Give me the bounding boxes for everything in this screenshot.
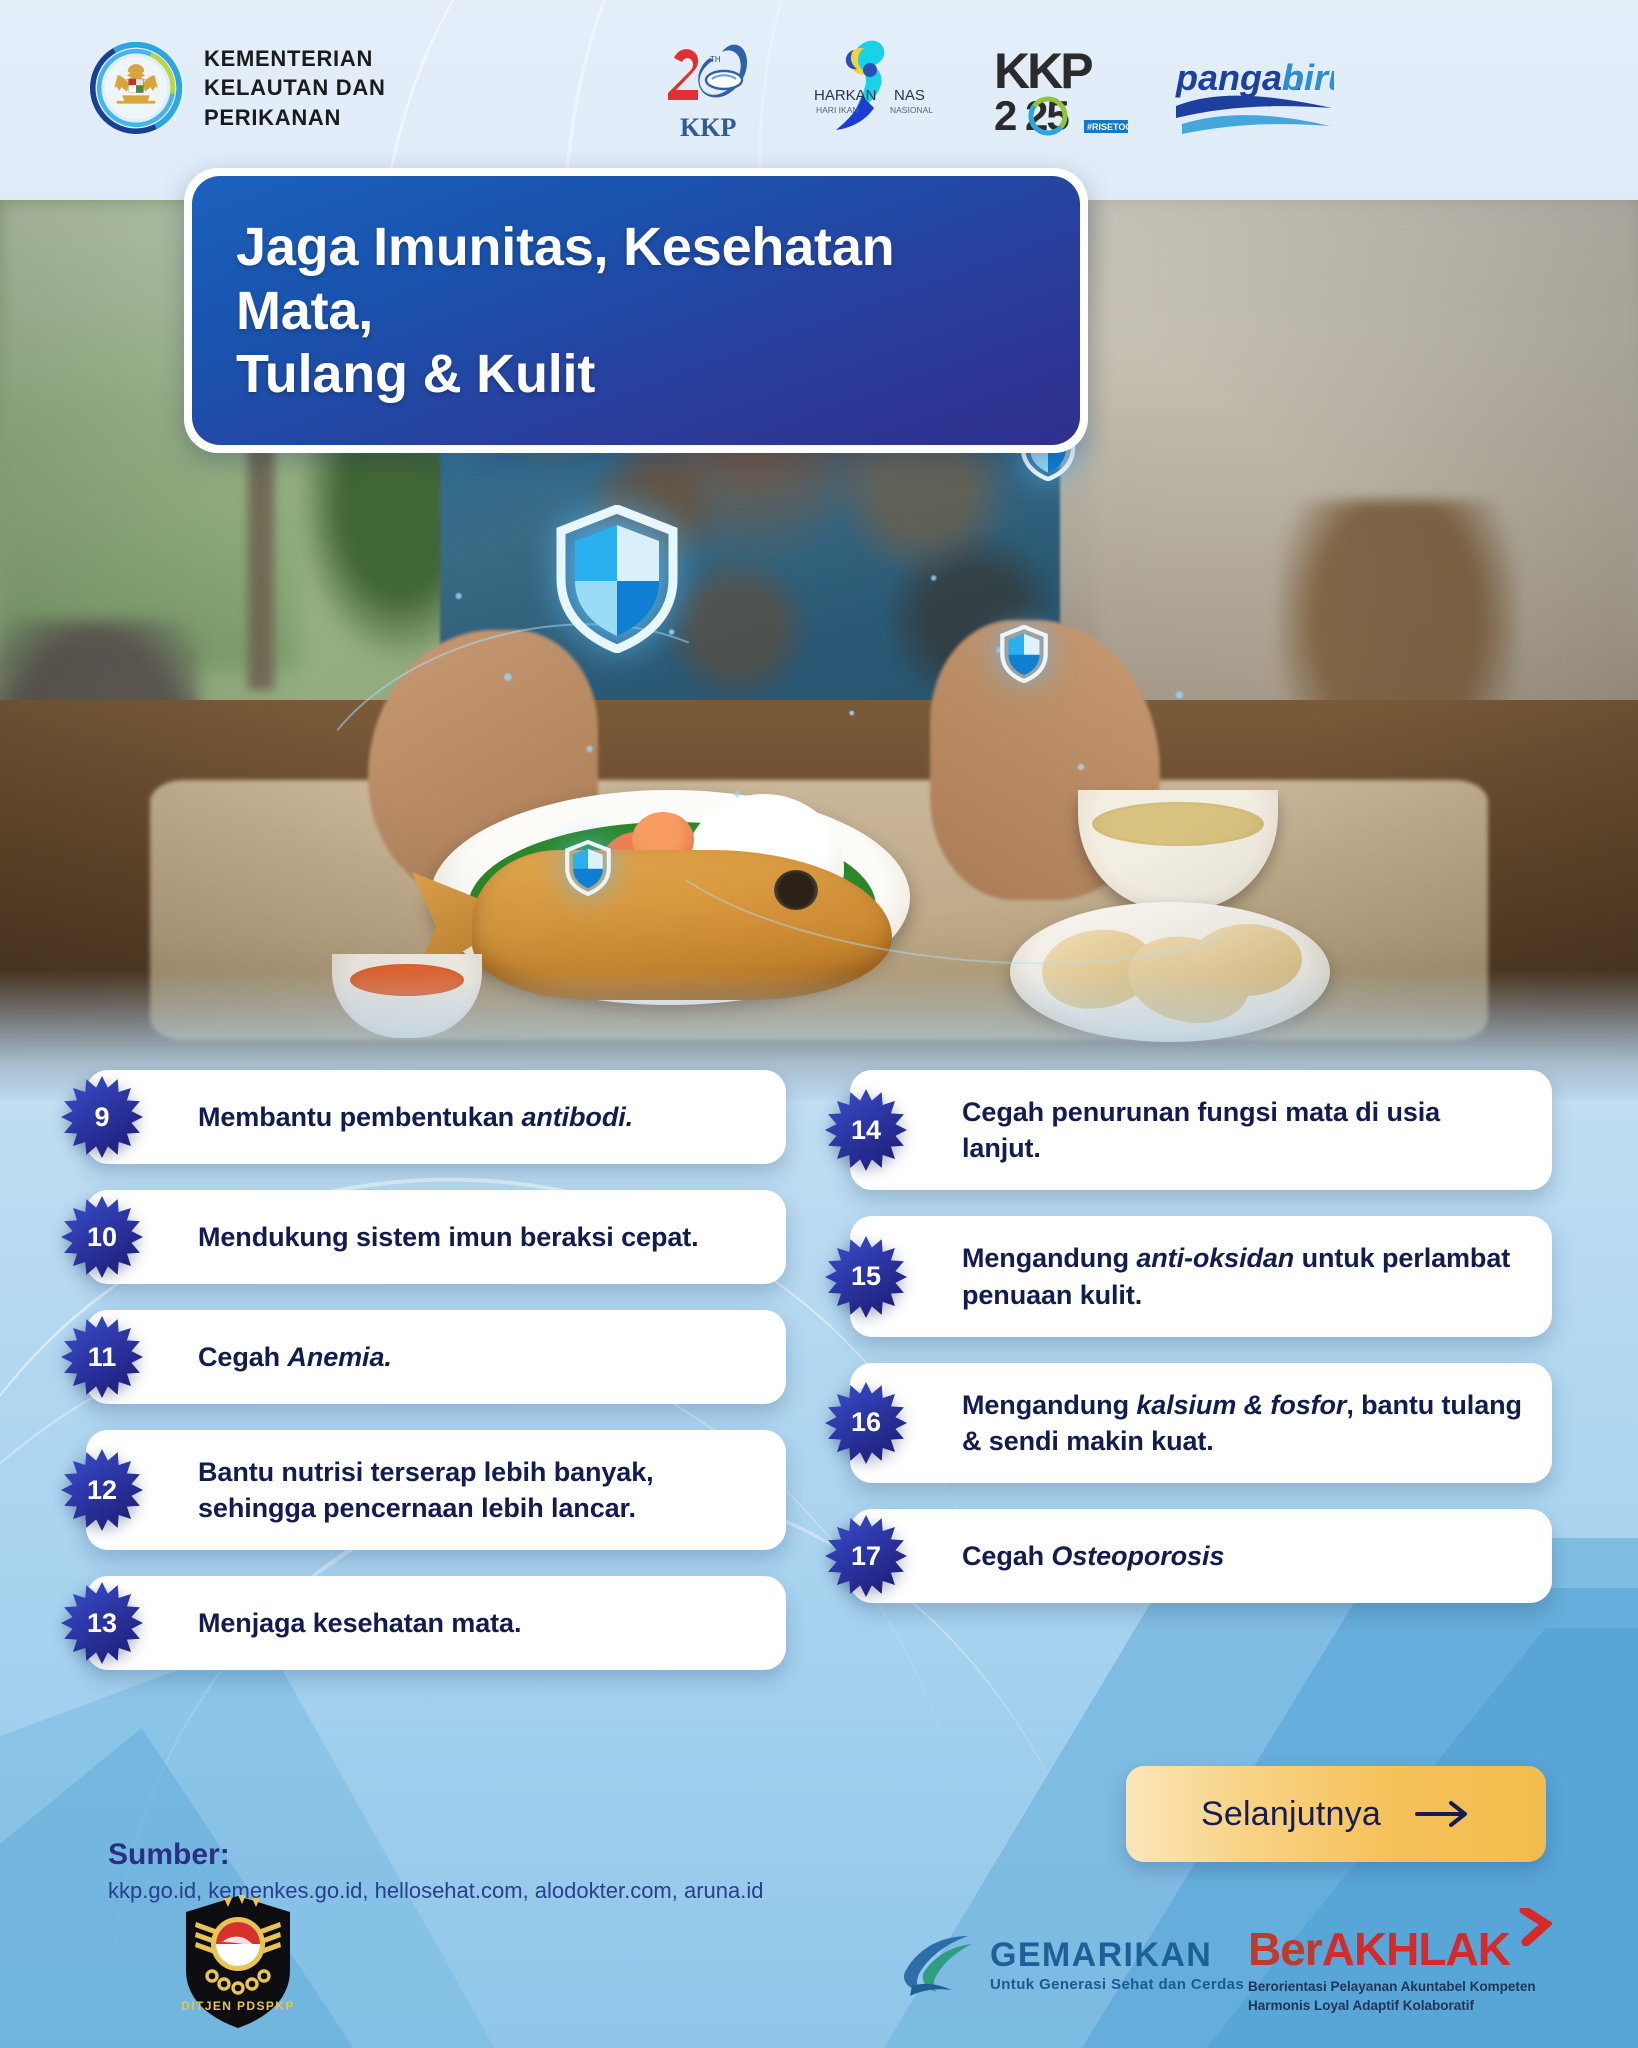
benefit-card: 14Cegah penurunan fungsi mata di usia la…: [850, 1070, 1552, 1190]
gemarikan-mark-icon: [898, 1930, 980, 2000]
svg-text:NAS: NAS: [894, 87, 925, 104]
benefit-card: 12Bantu nutrisi terserap lebih banyak, s…: [86, 1430, 786, 1550]
berakhlak-values: Berorientasi Pelayanan Akuntabel Kompete…: [1248, 1977, 1536, 2015]
benefit-text: Menjaga kesehatan mata.: [198, 1605, 521, 1641]
ministry-name: KEMENTERIAN KELAUTAN DAN PERIKANAN: [204, 44, 386, 131]
benefits-left-column: 9Membantu pembentukan antibodi.10Menduku…: [86, 1070, 786, 1696]
page-title: Jaga Imunitas, Kesehatan Mata, Tulang & …: [236, 216, 1036, 407]
benefit-number: 14: [851, 1117, 881, 1144]
benefit-card: 10Mendukung sistem imun beraksi cepat.: [86, 1190, 786, 1284]
harkannas-logo-icon: HARKAN NAS HARI IKAN NASIONAL: [802, 44, 942, 140]
benefit-number: 17: [851, 1543, 881, 1570]
next-button-label: Selanjutnya: [1201, 1795, 1381, 1834]
sources-title: Sumber:: [108, 1838, 763, 1872]
benefit-card: 16Mengandung kalsium & fosfor, bantu tul…: [850, 1363, 1552, 1483]
page-title-line-2: Tulang & Kulit: [236, 343, 1036, 407]
benefit-card: 9Membantu pembentukan antibodi.: [86, 1070, 786, 1164]
benefit-text: Cegah Anemia.: [198, 1339, 392, 1375]
benefit-text: Mengandung anti-oksidan untuk perlambat …: [962, 1240, 1522, 1312]
partner-logos: TH KKP HARKAN NAS HARI IKAN NASIONAL: [660, 40, 1334, 140]
benefit-number-badge: 9: [60, 1075, 144, 1159]
svg-text:biru: biru: [1282, 57, 1334, 98]
berakhlak-part-2: AKHLAK: [1322, 1923, 1510, 1975]
benefit-text: Mendukung sistem imun beraksi cepat.: [198, 1219, 699, 1255]
benefit-number: 13: [87, 1610, 117, 1637]
title-card-outer: Jaga Imunitas, Kesehatan Mata, Tulang & …: [184, 168, 1088, 453]
berakhlak-values-line-2: Harmonis Loyal Adaptif Kolaboratif: [1248, 1996, 1536, 2015]
benefit-number-badge: 11: [60, 1315, 144, 1399]
arrow-right-icon: [1415, 1799, 1471, 1829]
benefit-number-badge: 15: [824, 1235, 908, 1319]
kkp-26th-anniversary-logo-icon: TH KKP: [660, 44, 756, 140]
svg-text:#RISETOGETHER: #RISETOGETHER: [1087, 122, 1128, 132]
title-card-inner: Jaga Imunitas, Kesehatan Mata, Tulang & …: [192, 176, 1080, 445]
benefit-number: 9: [94, 1104, 109, 1131]
benefit-text: Cegah penurunan fungsi mata di usia lanj…: [962, 1094, 1522, 1166]
svg-text:NASIONAL: NASIONAL: [890, 105, 933, 115]
benefit-number-badge: 10: [60, 1195, 144, 1279]
benefit-text: Cegah Osteoporosis: [962, 1538, 1224, 1574]
shield-icon-small-center: [565, 840, 611, 896]
benefit-number: 10: [87, 1224, 117, 1251]
title-banner: Jaga Imunitas, Kesehatan Mata, Tulang & …: [184, 168, 1088, 453]
ditjen-pdspkp-emblem-icon: DITJEN PDSPKP: [178, 1892, 298, 2032]
benefit-text: Mengandung kalsium & fosfor, bantu tulan…: [962, 1387, 1522, 1459]
berakhlak-values-line-1: Berorientasi Pelayanan Akuntabel Kompete…: [1248, 1977, 1536, 1996]
svg-text:DITJEN PDSPKP: DITJEN PDSPKP: [181, 1999, 295, 2013]
berakhlak-logo-icon: BerAKHLAK Berorientasi Pelayanan Akuntab…: [1248, 1926, 1536, 2015]
shield-icon-small-top: [1000, 625, 1048, 683]
benefit-text: Membantu pembentukan antibodi.: [198, 1099, 633, 1135]
ministry-logo-lockup: KEMENTERIAN KELAUTAN DAN PERIKANAN: [90, 42, 386, 134]
svg-text:TH: TH: [710, 55, 721, 64]
benefit-number-badge: 12: [60, 1448, 144, 1532]
benefit-number-badge: 17: [824, 1514, 908, 1598]
ministry-name-line-3: PERIKANAN: [204, 103, 386, 132]
berakhlak-wordmark: BerAKHLAK: [1248, 1926, 1536, 1972]
shield-icon-large: [555, 505, 679, 653]
benefit-card: 11Cegah Anemia.: [86, 1310, 786, 1404]
kkp-garuda-emblem-icon: [90, 42, 182, 134]
benefit-number: 16: [851, 1409, 881, 1436]
berakhlak-chevron-icon: [1518, 1908, 1552, 1946]
benefits-right-column: 14Cegah penurunan fungsi mata di usia la…: [850, 1070, 1552, 1629]
footer-logos: DITJEN PDSPKP GEMARIKAN Untuk Generasi S…: [0, 1892, 1638, 2048]
benefit-number-badge: 16: [824, 1381, 908, 1465]
page-title-line-1: Jaga Imunitas, Kesehatan Mata,: [236, 216, 1036, 343]
benefit-card: 15Mengandung anti-oksidan untuk perlamba…: [850, 1216, 1552, 1336]
poster-canvas: KEMENTERIAN KELAUTAN DAN PERIKANAN TH KK…: [0, 0, 1638, 2048]
svg-text:KKP: KKP: [994, 43, 1092, 99]
benefit-number-badge: 13: [60, 1581, 144, 1665]
benefit-number: 11: [88, 1344, 117, 1371]
svg-text:KKP: KKP: [680, 113, 736, 140]
svg-text:HARI IKAN: HARI IKAN: [816, 105, 859, 115]
ministry-name-line-2: KELAUTAN DAN: [204, 73, 386, 102]
panganbiru-logo-icon: pangan biru: [1174, 44, 1334, 140]
benefit-card: 17Cegah Osteoporosis: [850, 1509, 1552, 1603]
header: KEMENTERIAN KELAUTAN DAN PERIKANAN TH KK…: [0, 0, 1638, 176]
gemarikan-tagline: Untuk Generasi Sehat dan Cerdas: [990, 1976, 1244, 1993]
kkp-2025-logo-icon: KKP 2 25 #RISETOGETHER: [988, 44, 1128, 140]
benefit-text: Bantu nutrisi terserap lebih banyak, seh…: [198, 1454, 756, 1526]
next-button[interactable]: Selanjutnya: [1126, 1766, 1546, 1862]
svg-text:HARKAN: HARKAN: [814, 87, 877, 104]
benefit-number: 15: [851, 1263, 881, 1290]
benefit-number-badge: 14: [824, 1088, 908, 1172]
berakhlak-part-1: Ber: [1248, 1923, 1322, 1975]
gemarikan-logo-icon: GEMARIKAN Untuk Generasi Sehat dan Cerda…: [898, 1930, 1244, 2000]
benefit-card: 13Menjaga kesehatan mata.: [86, 1576, 786, 1670]
gemarikan-title: GEMARIKAN: [990, 1938, 1244, 1972]
ministry-name-line-1: KEMENTERIAN: [204, 44, 386, 73]
benefit-number: 12: [87, 1477, 117, 1504]
